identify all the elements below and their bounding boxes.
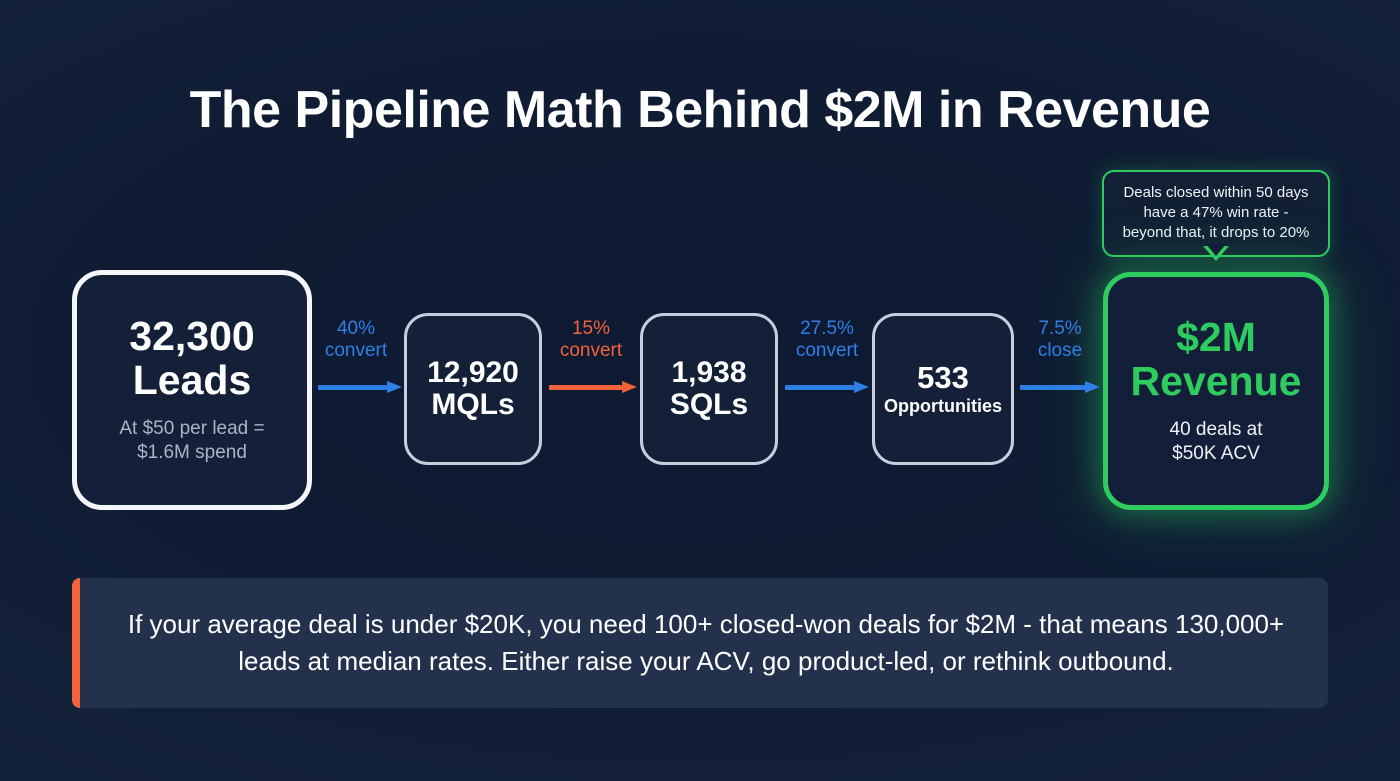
- funnel-node-revenue-value: $2M: [1176, 316, 1256, 360]
- funnel-node-mqls-label: MQLs: [431, 389, 514, 421]
- arrow-shaft: [785, 385, 854, 390]
- callout-tail-inner-icon: [1206, 244, 1226, 256]
- page-title: The Pipeline Math Behind $2M in Revenue: [0, 80, 1400, 140]
- funnel-node-mqls-value: 12,920: [427, 357, 519, 389]
- funnel-node-mqls[interactable]: 12,920 MQLs: [404, 313, 542, 465]
- funnel-node-opportunities-label: Opportunities: [884, 397, 1002, 417]
- conversion-label-mqls-to-sqls: 15% convert: [540, 318, 642, 363]
- funnel-node-leads-sub: At $50 per lead = $1.6M spend: [119, 417, 264, 465]
- arrow-mqls-to-sqls-icon: [549, 381, 637, 393]
- arrow-shaft: [1020, 385, 1085, 390]
- funnel-node-opportunities-value: 533: [917, 361, 969, 394]
- arrow-opportunities-to-revenue-icon: [1020, 381, 1100, 393]
- arrow-head: [1085, 381, 1100, 393]
- conversion-label-sqls-to-opportunities: 27.5% convert: [775, 318, 879, 363]
- funnel-node-sqls[interactable]: 1,938 SQLs: [640, 313, 778, 465]
- arrow-shaft: [318, 385, 387, 390]
- conversion-label-opportunities-to-revenue: 7.5% close: [1010, 318, 1110, 363]
- arrow-sqls-to-opportunities-icon: [785, 381, 869, 393]
- insight-accent-bar: [72, 578, 80, 708]
- funnel-node-leads-value: 32,300: [129, 315, 254, 359]
- insight-panel: If your average deal is under $20K, you …: [72, 578, 1328, 708]
- arrow-head: [854, 381, 869, 393]
- funnel-node-sqls-value: 1,938: [671, 357, 746, 389]
- insight-text: If your average deal is under $20K, you …: [80, 606, 1328, 680]
- arrow-head: [622, 381, 637, 393]
- conversion-label-leads-to-mqls: 40% convert: [306, 318, 406, 363]
- arrow-shaft: [549, 385, 622, 390]
- arrow-head: [387, 381, 402, 393]
- funnel-node-revenue-label: Revenue: [1131, 360, 1302, 404]
- funnel-node-leads[interactable]: 32,300 Leads At $50 per lead = $1.6M spe…: [72, 270, 312, 510]
- funnel-node-leads-label: Leads: [133, 359, 252, 403]
- infographic-canvas: The Pipeline Math Behind $2M in Revenue …: [0, 0, 1400, 781]
- funnel-node-sqls-label: SQLs: [670, 389, 748, 421]
- funnel-node-revenue-sub: 40 deals at $50K ACV: [1170, 418, 1263, 466]
- funnel-node-revenue[interactable]: $2M Revenue 40 deals at $50K ACV: [1103, 272, 1329, 510]
- funnel-node-opportunities[interactable]: 533 Opportunities: [872, 313, 1014, 465]
- arrow-leads-to-mqls-icon: [318, 381, 402, 393]
